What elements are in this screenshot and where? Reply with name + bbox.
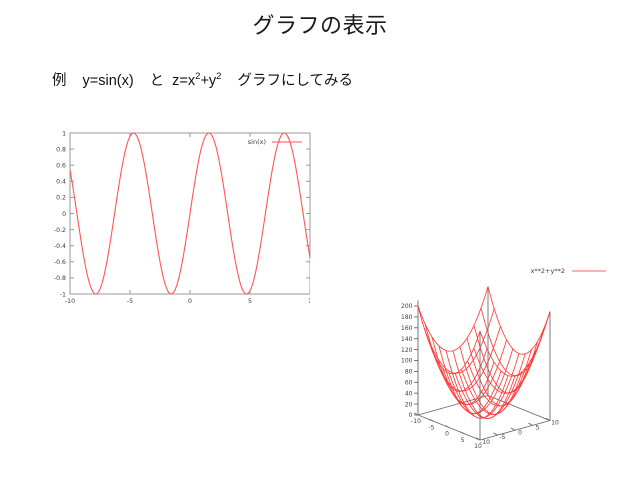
subtitle-tail: グラフにしてみる [237,73,353,89]
sin-y-tick-label: 0.4 [56,179,66,186]
subtitle-line: 例y=sin(x)とz=x2+y2グラフにしてみる [52,71,353,91]
surface-z-tick-label: 40 [405,390,413,397]
sin-y-tick-label: -0.8 [54,275,66,282]
sin-x-tick-label: -10 [65,298,75,305]
surface-y-tick-label: -10 [480,439,490,446]
page-title: グラフの表示 [0,12,640,40]
sin-legend-label: sin(x) [248,138,266,146]
sin-plot-background [44,122,320,310]
subtitle-expr-2-base: z=x [172,73,195,89]
surface-plot-figure: 020406080100120140160180200 -10-50510 -1… [310,258,640,450]
surface-z-tick-label: 200 [401,303,413,310]
surface-legend-label: x**2+y**2 [531,267,565,275]
subtitle-lead: 例 [52,73,67,89]
sin-x-tick-label: 0 [188,298,192,305]
surface-y-tick-label: -5 [500,434,506,441]
surface-y-tick-label: 5 [536,424,540,431]
sin-x-tick-label: 5 [248,298,252,305]
sin-y-tick-label: -0.4 [54,243,66,250]
surface-z-tick-label: 60 [405,380,413,387]
surface-y-tick-label: 0 [518,429,522,436]
subtitle-expr-2-mid: +y [200,73,216,89]
surface-z-tick-label: 180 [401,314,413,321]
sin-plot-svg: -1-0.8-0.6-0.4-0.200.20.40.60.81 -10-505… [44,122,320,310]
surface-x-tick-label: -5 [429,424,435,431]
surface-plot-background [310,258,640,450]
surface-z-tick-label: 100 [401,358,413,365]
surface-x-tick-label: 0 [445,431,449,438]
sin-y-tick-label: -0.6 [54,259,66,266]
surface-y-tick-label: 10 [551,420,559,427]
sin-y-tick-label: 1 [62,130,66,137]
surface-x-tick-label: 5 [461,437,465,444]
sin-y-tick-label: 0 [62,211,66,218]
surface-x-tick-label: -10 [411,418,421,425]
sin-y-tick-label: -0.2 [54,227,66,234]
surface-z-tick-label: 120 [401,347,413,354]
surface-z-tick-label: 160 [401,325,413,332]
sin-y-tick-label: 0.2 [56,195,66,202]
surface-plot-svg: 020406080100120140160180200 -10-50510 -1… [310,258,640,450]
surface-z-tick-label: 140 [401,336,413,343]
sin-x-tick-label: -5 [127,298,133,305]
subtitle-expr-2-sup-2: 2 [216,71,221,82]
sin-y-tick-label: 0.6 [56,163,66,170]
surface-z-tick-label: 20 [405,401,413,408]
sin-plot-figure: -1-0.8-0.6-0.4-0.200.20.40.60.81 -10-505… [44,122,320,310]
slide-canvas: グラフの表示 例y=sin(x)とz=x2+y2グラフにしてみる -1-0.8-… [0,0,640,480]
subtitle-conjunction: と [150,73,165,89]
surface-z-tick-label: 80 [405,369,413,376]
subtitle-expr-1: y=sin(x) [83,73,134,89]
sin-y-tick-label: 0.8 [56,146,66,153]
